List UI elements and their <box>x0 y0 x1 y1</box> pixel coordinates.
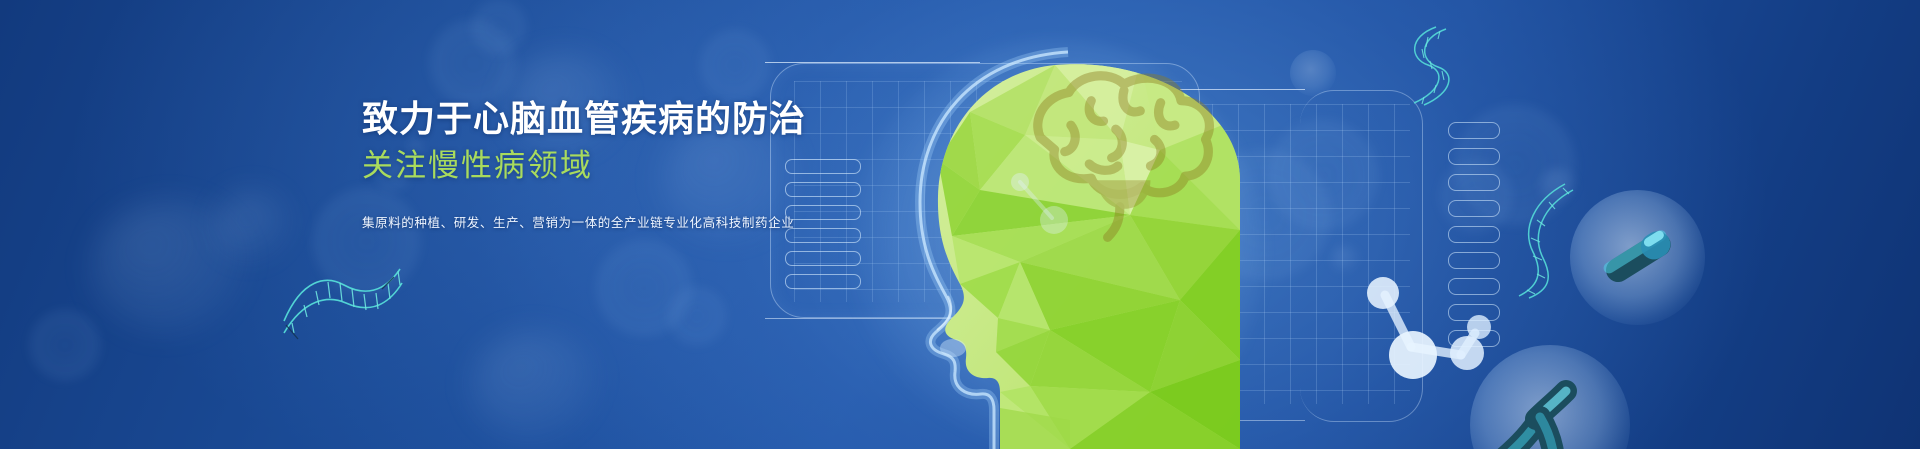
headline-suffix: 的防治 <box>695 98 806 139</box>
dna-helix-left <box>278 255 408 340</box>
hud-pill <box>1448 174 1500 191</box>
hero-banner: 致力于心脑血管疾病的防治 关注慢性病领域 集原料的种植、研发、生产、营销为一体的… <box>0 0 1920 449</box>
hero-copy-block: 致力于心脑血管疾病的防治 关注慢性病领域 集原料的种植、研发、生产、营销为一体的… <box>362 98 792 232</box>
bacillus-icon <box>1570 190 1705 325</box>
bokeh-circle <box>596 240 692 336</box>
cell-circle-chromosome <box>1470 345 1630 449</box>
hud-pill <box>1448 226 1500 243</box>
dna-helix-top <box>1390 25 1460 110</box>
hud-pill <box>1448 122 1500 139</box>
hud-pill <box>1448 148 1500 165</box>
chromosome-icon <box>1470 345 1630 449</box>
bokeh-circle <box>470 330 600 440</box>
cell-circle-faint <box>1290 50 1336 96</box>
page-tagline: 集原料的种植、研发、生产、营销为一体的全产业链专业化高科技制药企业 <box>362 214 792 232</box>
bokeh-circle <box>472 0 526 54</box>
bokeh-circle <box>30 310 100 380</box>
lip-highlight <box>940 339 966 357</box>
page-subtitle: 关注慢性病领域 <box>362 147 792 185</box>
hud-pill <box>1448 252 1500 269</box>
molecule-node <box>1040 206 1068 234</box>
hud-pill <box>1448 200 1500 217</box>
molecule-node <box>1367 277 1399 309</box>
bokeh-circle <box>700 30 770 100</box>
molecule-node <box>1467 315 1491 339</box>
bokeh-circle <box>215 190 290 260</box>
bokeh-circle <box>90 200 250 335</box>
bokeh-circle <box>430 20 516 106</box>
cell-circle-bacillus <box>1570 190 1705 325</box>
headline-prefix: 致力于 <box>362 98 473 139</box>
molecule-structure-small <box>1000 160 1090 250</box>
headline-emphasis: 心脑血管疾病 <box>473 98 695 139</box>
molecule-node <box>1011 173 1029 191</box>
molecule-node <box>1389 331 1437 379</box>
bokeh-circle <box>668 287 726 345</box>
page-title: 致力于心脑血管疾病的防治 <box>362 98 792 140</box>
